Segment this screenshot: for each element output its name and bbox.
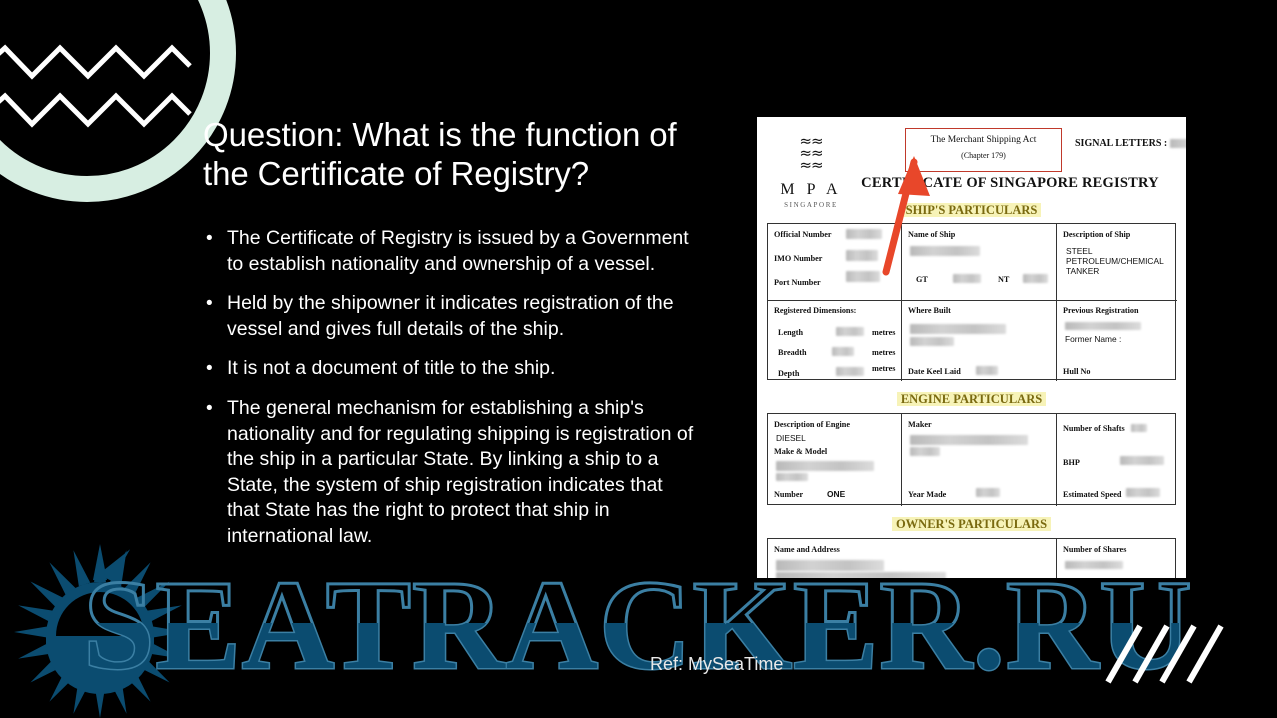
certificate-of-registry-image: ≈≈≈≈≈≈ M P A SINGAPORE The Merchant Ship… [757, 117, 1186, 578]
date-keel-laid-label: Date Keel Laid [908, 367, 961, 376]
act-title: The Merchant Shipping Act [906, 135, 1061, 145]
signal-letters-field: SIGNAL LETTERS : [1075, 138, 1186, 149]
depth-label: Depth [778, 369, 799, 378]
list-item: • The Certificate of Registry is issued … [200, 226, 700, 277]
bhp-label: BHP [1063, 458, 1080, 467]
page-title: Question: What is the function of the Ce… [203, 115, 703, 193]
where-built-label: Where Built [908, 306, 951, 315]
ship-particulars-table: Official Number IMO Number Port Number N… [767, 223, 1176, 380]
svg-text:SEATRACKER.RU: SEATRACKER.RU [83, 560, 1192, 685]
mpa-logo-text: M P A [769, 181, 853, 199]
signal-letters-label: SIGNAL LETTERS : [1075, 138, 1167, 149]
former-name-label: Former Name : [1065, 334, 1121, 344]
list-item-text: The general mechanism for establishing a… [227, 397, 693, 547]
sun-watermark-icon [8, 540, 193, 718]
maker-label: Maker [908, 420, 932, 429]
svg-text:SEATRACKER.RU: SEATRACKER.RU [83, 560, 1192, 685]
bullet-marker-icon: • [206, 396, 213, 422]
reference-text: Ref: MySeaTime [650, 654, 783, 675]
registered-dimensions-label: Registered Dimensions: [774, 306, 856, 315]
year-made-label: Year Made [908, 490, 946, 499]
number-of-shafts-label: Number of Shafts [1063, 424, 1125, 433]
breadth-label: Breadth [778, 348, 807, 357]
bullet-marker-icon: • [206, 356, 213, 382]
name-and-address-label: Name and Address [774, 545, 840, 554]
port-number-label: Port Number [774, 278, 821, 287]
official-number-label: Official Number [774, 230, 832, 239]
description-of-ship-value: STEEL PETROLEUM/CHEMICAL TANKER [1066, 246, 1174, 276]
mpa-waves-icon: ≈≈≈≈≈≈ [769, 135, 853, 171]
act-chapter: (Chapter 179) [906, 151, 1061, 160]
nt-label: NT [998, 275, 1009, 284]
mpa-logo: ≈≈≈≈≈≈ M P A SINGAPORE [769, 135, 853, 209]
length-label: Length [778, 328, 803, 337]
imo-number-label: IMO Number [774, 254, 822, 263]
make-model-label: Make & Model [774, 447, 827, 456]
list-item-text: The Certificate of Registry is issued by… [227, 227, 689, 275]
previous-registration-label: Previous Registration [1063, 306, 1139, 315]
bullet-list: • The Certificate of Registry is issued … [200, 226, 700, 564]
certificate-title: CERTIFICATE OF SINGAPORE REGISTRY [845, 175, 1175, 192]
description-of-engine-label: Description of Engine [774, 420, 850, 429]
owner-particulars-table: Name and Address Number of Shares [767, 538, 1176, 578]
list-item: • Held by the shipowner it indicates reg… [200, 291, 700, 342]
section-heading-owner: OWNER'S PARTICULARS [757, 517, 1186, 532]
list-item: • The general mechanism for establishing… [200, 396, 700, 550]
list-item: • It is not a document of title to the s… [200, 356, 700, 382]
engine-number-value: ONE [827, 489, 845, 499]
metres-unit: metres [872, 328, 896, 337]
metres-unit: metres [872, 364, 896, 373]
number-of-shares-label: Number of Shares [1063, 545, 1126, 554]
hull-no-label: Hull No [1063, 367, 1091, 376]
description-of-ship-label: Description of Ship [1063, 230, 1130, 239]
engine-number-label: Number [774, 490, 803, 499]
metres-unit: metres [872, 348, 896, 357]
merchant-shipping-act-box: The Merchant Shipping Act (Chapter 179) [905, 128, 1062, 172]
estimated-speed-label: Estimated Speed [1063, 490, 1121, 499]
seatracker-watermark: SEATRACKER.RU SEATRACKER.RU [0, 560, 1277, 685]
list-item-text: It is not a document of title to the shi… [227, 357, 555, 379]
section-heading-ship: SHIP'S PARTICULARS [757, 203, 1186, 218]
slide-canvas: Question: What is the function of the Ce… [0, 0, 1277, 718]
engine-particulars-table: Description of Engine DIESEL Make & Mode… [767, 413, 1176, 505]
decorative-zigzag-lines [0, 20, 220, 220]
section-heading-engine: ENGINE PARTICULARS [757, 392, 1186, 407]
bullet-marker-icon: • [206, 226, 213, 252]
name-of-ship-label: Name of Ship [908, 230, 955, 239]
description-of-engine-value: DIESEL [776, 433, 806, 443]
list-item-text: Held by the shipowner it indicates regis… [227, 292, 674, 340]
bullet-marker-icon: • [206, 291, 213, 317]
gt-label: GT [916, 275, 928, 284]
redacted-value [1170, 139, 1186, 148]
